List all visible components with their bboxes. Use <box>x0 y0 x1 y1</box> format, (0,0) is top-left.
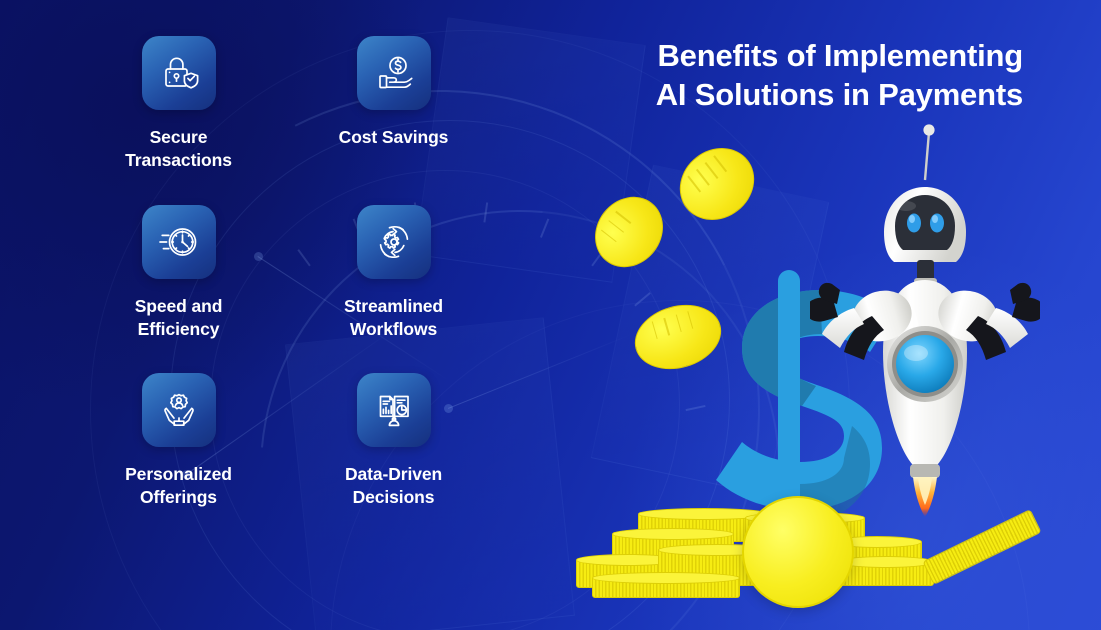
benefit-icon-tile <box>357 205 431 279</box>
benefit-label-line-2: Workflows <box>350 319 437 339</box>
benefit-label-line-2: Transactions <box>125 150 232 170</box>
benefit-item-secure-transactions[interactable]: Secure Transactions <box>96 36 261 173</box>
lock-shield-icon <box>157 51 201 95</box>
fast-clock-icon <box>157 220 201 264</box>
chart-monitor-icon <box>372 388 416 432</box>
benefit-label-line-2: Decisions <box>353 487 435 507</box>
floating-coin-2 <box>581 183 677 281</box>
benefit-label-line-2: Offerings <box>140 487 217 507</box>
benefit-label: Streamlined Workflows <box>311 295 476 342</box>
benefit-label-line-1: Cost Savings <box>339 127 449 147</box>
benefit-item-personalized-offerings[interactable]: Personalized Offerings <box>96 373 261 510</box>
benefit-icon-tile <box>357 373 431 447</box>
coin-stack-5 <box>592 576 740 598</box>
page-title: Benefits of Implementing AI Solutions in… <box>553 36 1023 114</box>
coin-stack-group <box>570 490 1040 620</box>
infographic-canvas: Benefits of Implementing AI Solutions in… <box>0 0 1101 630</box>
benefit-label: Cost Savings <box>311 126 476 149</box>
benefit-label-line-1: Personalized <box>125 464 232 484</box>
benefit-label: Speed and Efficiency <box>96 295 261 342</box>
benefit-icon-tile <box>142 205 216 279</box>
coin-front-large <box>742 496 854 608</box>
benefit-item-cost-savings[interactable]: Cost Savings <box>311 36 476 173</box>
benefit-label-line-1: Speed and <box>135 296 223 316</box>
benefit-item-speed-efficiency[interactable]: Speed and Efficiency <box>96 205 261 342</box>
benefit-label-line-1: Secure <box>150 127 208 147</box>
benefit-label: Data-Driven Decisions <box>311 463 476 510</box>
benefits-grid: Secure Transactions Cost Savings <box>96 36 516 510</box>
benefit-icon-tile <box>142 373 216 447</box>
hand-coin-icon <box>372 51 416 95</box>
benefit-item-data-driven-decisions[interactable]: Data-Driven Decisions <box>311 373 476 510</box>
benefit-label: Secure Transactions <box>96 126 261 173</box>
benefit-label-line-1: Streamlined <box>344 296 443 316</box>
benefit-icon-tile <box>357 36 431 110</box>
ai-robot-mascot <box>810 120 1040 520</box>
benefit-icon-tile <box>142 36 216 110</box>
coin-stack-tilted <box>922 509 1041 585</box>
illustration-group <box>560 120 1060 630</box>
floating-coin-1 <box>665 133 768 235</box>
title-line-2: AI Solutions in Payments <box>553 75 1023 114</box>
benefit-label: Personalized Offerings <box>96 463 261 510</box>
title-line-1: Benefits of Implementing <box>553 36 1023 75</box>
gear-cycle-icon <box>372 220 416 264</box>
benefit-label-line-2: Efficiency <box>138 319 220 339</box>
benefit-item-streamlined-workflows[interactable]: Streamlined Workflows <box>311 205 476 342</box>
benefit-label-line-1: Data-Driven <box>345 464 442 484</box>
hands-user-icon <box>157 388 201 432</box>
